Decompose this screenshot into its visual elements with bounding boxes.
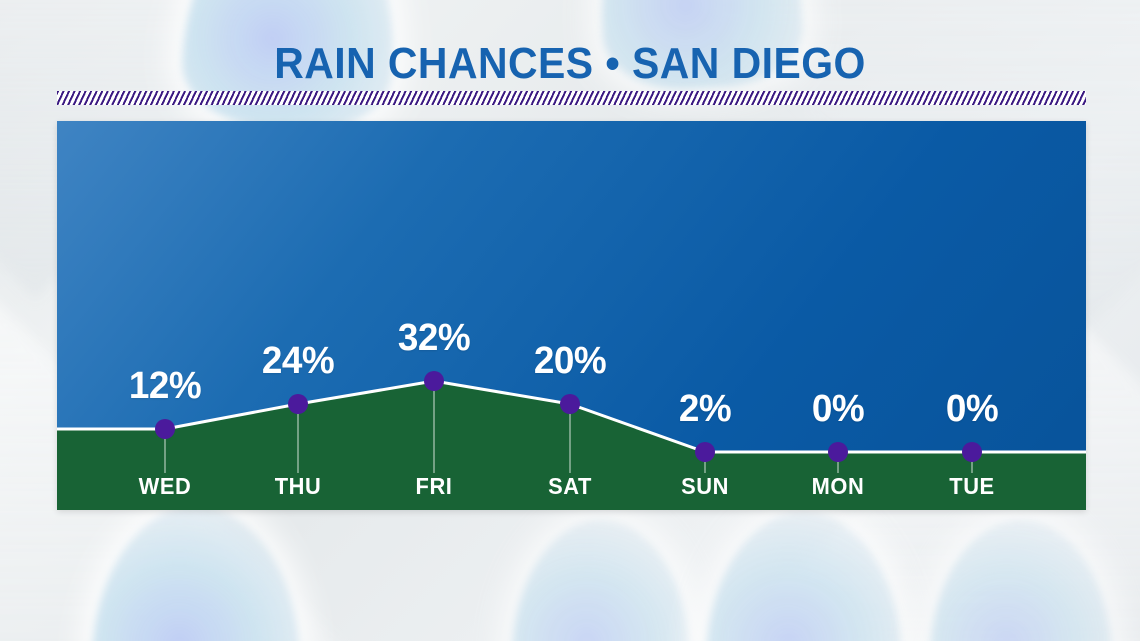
data-point-dot[interactable] [695,442,715,462]
day-label-tue: TUE [949,475,994,498]
hatched-divider [57,91,1086,105]
raindrop-watermark-icon [512,520,690,641]
value-label-tue: 0% [946,390,998,428]
data-point-dot[interactable] [828,442,848,462]
value-label-sun: 2% [679,390,731,428]
data-point-dot[interactable] [560,394,580,414]
data-point-dot[interactable] [155,419,175,439]
day-label-wed: WED [139,475,192,498]
day-label-thu: THU [275,475,322,498]
page-title: RAIN CHANCES • SAN DIEGO [40,39,1100,89]
rain-chance-area-chart [57,121,1086,510]
chart-panel: 12%24%32%20%2%0%0% WEDTHUFRISATSUNMONTUE [57,121,1086,510]
value-label-thu: 24% [262,342,334,380]
value-label-wed: 12% [129,367,201,405]
value-label-mon: 0% [812,390,864,428]
day-label-fri: FRI [416,475,453,498]
day-label-mon: MON [812,475,865,498]
value-label-fri: 32% [398,319,470,357]
value-label-sat: 20% [534,342,606,380]
data-point-dot[interactable] [288,394,308,414]
data-point-dot[interactable] [424,371,444,391]
day-label-sun: SUN [681,475,729,498]
day-label-sat: SAT [548,475,592,498]
weather-graphic: RAIN CHANCES • SAN DIEGO 12%24%32%20%2%0… [0,0,1140,641]
data-point-dot[interactable] [962,442,982,462]
